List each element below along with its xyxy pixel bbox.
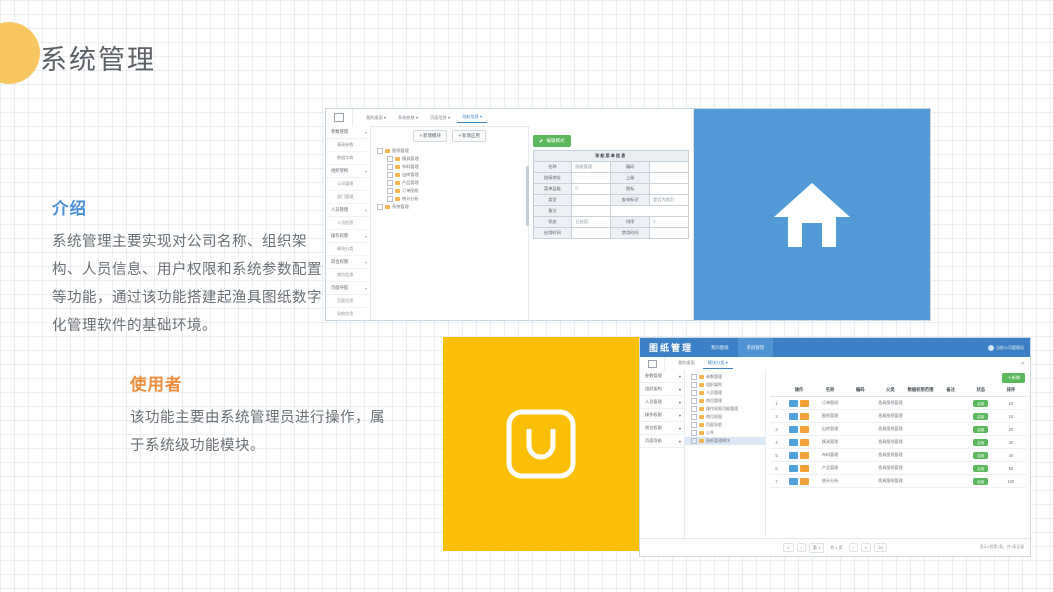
- form-row: 类型查询标识是否为首页: [533, 194, 689, 205]
- form-label: 上级: [611, 172, 650, 183]
- row-index: 2: [770, 410, 783, 423]
- cell-status: 启用: [966, 462, 996, 475]
- sidebar-group-label: 人员管理: [331, 207, 348, 213]
- edit-button[interactable]: [800, 413, 809, 420]
- edit-icon: [539, 138, 544, 143]
- sidebar-group[interactable]: 操作权限▾: [326, 230, 370, 243]
- avatar: [988, 345, 994, 351]
- tree-node[interactable]: 模具管理: [371, 155, 528, 163]
- page-total: 共 1 页: [827, 544, 845, 552]
- cell-remark: [936, 410, 966, 423]
- page-next[interactable]: ›: [849, 543, 858, 552]
- tree-node-label: 操作权限功能管理: [706, 406, 738, 412]
- checkbox[interactable]: [387, 180, 393, 186]
- breadcrumb-item[interactable]: 页面信息 ▾: [425, 113, 455, 123]
- tree-node-label: 图纸管理模块: [706, 438, 730, 444]
- tree-node-label: 系统管理: [392, 204, 409, 210]
- cell-scope: [905, 449, 935, 462]
- checkbox[interactable]: [691, 398, 697, 404]
- view-button[interactable]: [789, 465, 798, 472]
- sidebar-group-label: 参数管理: [645, 373, 662, 379]
- form-row: 启用时间禁用时间: [533, 227, 689, 238]
- tab-bar: 我的桌面模块分类 ▾ ✕: [640, 357, 1030, 371]
- column-header[interactable]: 操作: [783, 384, 815, 397]
- cell-remark: [936, 462, 966, 475]
- tree-node[interactable]: 统计分析: [371, 195, 528, 203]
- cell-status: 启用: [966, 436, 996, 449]
- form-label: 名称: [533, 161, 572, 172]
- row-actions[interactable]: [783, 475, 815, 488]
- screenshot-menu-management: 我的桌面 ▾系统参数 ▾页面信息 ▾导航信息 ▾ 参数管理▾基础参数数据字典组织…: [325, 108, 931, 321]
- form-row: 链接地址上级: [533, 172, 689, 183]
- tree-node-label: 订单图纸: [402, 188, 419, 194]
- chevron-down-icon: ▾: [679, 413, 681, 418]
- table-header-row: 操作名称编码父类数据权限范围备注状态排序: [770, 384, 1026, 397]
- cell-code: [845, 423, 875, 436]
- cell-scope: [905, 423, 935, 436]
- shopping-bag-icon: [504, 407, 578, 481]
- sidebar-group[interactable]: 参数管理▾: [640, 370, 684, 383]
- cell-sort: 10: [996, 397, 1026, 410]
- checkbox[interactable]: [691, 374, 697, 380]
- tree-node-label: 参数管理: [706, 374, 722, 380]
- folder-icon: [699, 439, 704, 443]
- data-grid: 操作名称编码父类数据权限范围备注状态排序 1订单图纸渔具图纸管理启用102图纸管…: [770, 384, 1026, 488]
- cell-code: [845, 462, 875, 475]
- column-header[interactable]: 名称: [815, 384, 845, 397]
- folder-icon: [395, 197, 400, 201]
- sidebar-nav-top: 参数管理▾基础参数数据字典组织架构▾公司管理部门管理人员管理▾人员信息操作权限▾…: [326, 126, 371, 320]
- form-value[interactable]: [572, 194, 611, 205]
- sidebar-item[interactable]: 页面信息: [326, 295, 370, 308]
- add-button[interactable]: ＋新增: [1002, 373, 1025, 383]
- view-button[interactable]: [789, 439, 798, 446]
- tab-item[interactable]: 模块分类 ▾: [703, 358, 733, 369]
- chevron-down-icon: ▾: [365, 234, 367, 239]
- tree-node-label: 统计分析: [402, 196, 419, 202]
- form-label: 菜单层级: [533, 183, 572, 194]
- edit-button[interactable]: [800, 439, 809, 446]
- page-first[interactable]: «: [783, 543, 793, 552]
- cell-name: 出库管理: [815, 423, 845, 436]
- tree-node-label: 产品管理: [402, 180, 419, 186]
- status-badge: 启用: [973, 439, 988, 446]
- sidebar-group[interactable]: 操作权限▾: [640, 409, 684, 422]
- screenshot-module-management: 图纸管理 我的图纸系统管理 当前公司管理员 我的桌面模块分类 ▾ ✕ 参数管理▾…: [639, 337, 1031, 557]
- cell-sort: 15: [996, 410, 1026, 423]
- view-button[interactable]: [789, 452, 798, 459]
- form-label: 状态: [533, 216, 572, 227]
- sidebar-group-label: 页面导航: [331, 285, 348, 291]
- sidebar-item[interactable]: 部门管理: [326, 191, 370, 204]
- sidebar-group-label: 组织架构: [645, 386, 662, 392]
- user-name: 当前公司管理员: [996, 345, 1024, 351]
- data-grid-panel: ＋新增 操作名称编码父类数据权限范围备注状态排序 1订单图纸渔具图纸管理启用10…: [766, 370, 1030, 539]
- row-index: 5: [770, 449, 783, 462]
- sidebar-group-label: 岗位权限: [331, 259, 348, 265]
- checkbox[interactable]: [691, 430, 697, 436]
- page-number[interactable]: 第 1: [809, 543, 824, 553]
- edit-button[interactable]: [800, 465, 809, 472]
- checkbox[interactable]: [377, 204, 383, 210]
- cell-name: 布料管理: [815, 449, 845, 462]
- sidebar-group[interactable]: 组织架构▾: [640, 383, 684, 396]
- form-value[interactable]: [572, 205, 611, 216]
- form-label: 类型: [533, 194, 572, 205]
- folder-icon: [395, 173, 400, 177]
- form-title: 导航菜单信息: [533, 150, 689, 161]
- form-label: 备注: [533, 205, 572, 216]
- cell-code: [845, 410, 875, 423]
- edit-button[interactable]: [800, 400, 809, 407]
- row-index: 6: [770, 462, 783, 475]
- checkbox[interactable]: [387, 172, 393, 178]
- status-badge: 启用: [973, 426, 988, 433]
- form-value[interactable]: [650, 183, 689, 194]
- sidebar-group-label: 操作权限: [645, 412, 662, 418]
- sidebar-nav-bottom: 参数管理▾组织架构▾人员管理▾操作权限▾岗位权限▾页面导航▾: [640, 370, 685, 539]
- page-title: 系统管理: [40, 38, 156, 77]
- checkbox[interactable]: [691, 422, 697, 428]
- form-value[interactable]: [650, 172, 689, 183]
- status-badge: 启用: [973, 478, 988, 485]
- edit-mode-label: 编辑模式: [547, 138, 565, 144]
- chevron-down-icon: ▾: [365, 130, 367, 135]
- row-actions[interactable]: [783, 410, 815, 423]
- tree-node[interactable]: 岗位管理: [685, 397, 765, 405]
- cell-scope: [905, 397, 935, 410]
- app-header-bottom: 图纸管理 我的图纸系统管理 当前公司管理员: [640, 338, 1030, 357]
- view-button[interactable]: [789, 413, 798, 420]
- row-actions[interactable]: [783, 423, 815, 436]
- form-value[interactable]: [650, 227, 689, 238]
- category-tree: 参数管理组织架构人员管理岗位管理操作权限功能管理岗位权限页面导航公共图纸管理模块: [685, 370, 766, 539]
- chevron-down-icon: ▾: [679, 374, 681, 379]
- tree-node-label: 岗位权限: [706, 414, 722, 420]
- form-row: 名称图纸管理编码: [533, 161, 689, 172]
- close-icon[interactable]: ✕: [1021, 361, 1025, 367]
- breadcrumb-item[interactable]: 导航信息 ▾: [457, 112, 487, 123]
- column-header[interactable]: [770, 384, 783, 397]
- cell-remark: [936, 397, 966, 410]
- nav-item[interactable]: 我的图纸: [702, 338, 738, 357]
- row-index: 3: [770, 423, 783, 436]
- intro-paragraph: 系统管理主要实现对公司名称、组织架构、人员信息、用户权限和系统参数配置等功能，通…: [52, 228, 324, 340]
- row-index: 1: [770, 397, 783, 410]
- form-value[interactable]: 1: [650, 216, 689, 227]
- chevron-down-icon: ▾: [365, 169, 367, 174]
- page-last[interactable]: »: [861, 543, 871, 552]
- status-badge: 启用: [973, 400, 988, 407]
- sidebar-group[interactable]: 人员管理▾: [326, 204, 370, 217]
- yellow-bag-panel: [443, 337, 639, 551]
- tab-item[interactable]: 我的桌面: [673, 358, 700, 369]
- cell-sort: 20: [996, 423, 1026, 436]
- checkbox[interactable]: [387, 188, 393, 194]
- checkbox[interactable]: [387, 196, 393, 202]
- breadcrumb: 我的桌面 ▾系统参数 ▾页面信息 ▾导航信息 ▾: [353, 112, 487, 123]
- top-toolbar: 我的桌面 ▾系统参数 ▾页面信息 ▾导航信息 ▾: [326, 109, 693, 127]
- cell-code: [845, 475, 875, 488]
- sidebar-item[interactable]: 导航信息: [326, 308, 370, 321]
- table-row[interactable]: 6产品管理渔具图纸管理启用50: [770, 462, 1026, 475]
- folder-icon: [699, 423, 704, 427]
- tree-toolbar: ＋新增模块＋新增应用: [371, 130, 528, 142]
- intro-heading: 介绍: [52, 195, 87, 219]
- status-badge: 启用: [973, 413, 988, 420]
- sidebar-group-label: 岗位权限: [645, 425, 662, 431]
- tree-node[interactable]: 组织架构: [685, 381, 765, 389]
- tree-node[interactable]: 布料管理: [371, 163, 528, 171]
- cell-scope: [905, 475, 935, 488]
- page-prev[interactable]: ‹: [797, 543, 806, 552]
- row-index: 4: [770, 436, 783, 449]
- chevron-down-icon: ▾: [365, 260, 367, 265]
- form-value[interactable]: 0: [572, 183, 611, 194]
- cell-status: 启用: [966, 410, 996, 423]
- form-value[interactable]: [611, 205, 689, 216]
- form-row: 备注: [533, 205, 689, 216]
- form-label: 启用时间: [533, 227, 572, 238]
- table-row[interactable]: 4模具管理渔具图纸管理启用30: [770, 436, 1026, 449]
- tree-action-button[interactable]: ＋新增应用: [452, 130, 486, 142]
- cell-parent: 渔具图纸管理: [875, 397, 905, 410]
- module-tree-panel: ＋新增模块＋新增应用 图纸管理模具管理布料管理出库管理产品管理订单图纸统计分析系…: [371, 126, 529, 320]
- row-index: 7: [770, 475, 783, 488]
- tree-node[interactable]: 人员管理: [685, 389, 765, 397]
- tree-node[interactable]: 产品管理: [371, 179, 528, 187]
- tree-node[interactable]: 图纸管理模块: [685, 437, 765, 445]
- sidebar-group[interactable]: 组织架构▾: [326, 165, 370, 178]
- cell-parent: 渔具图纸管理: [875, 475, 905, 488]
- cell-code: [845, 436, 875, 449]
- table-row[interactable]: 2图纸管理渔具图纸管理启用15: [770, 410, 1026, 423]
- tree-node[interactable]: 操作权限功能管理: [685, 405, 765, 413]
- sidebar-group[interactable]: 人员管理▾: [640, 396, 684, 409]
- cell-name: 订单图纸: [815, 397, 845, 410]
- tree-node-label: 模具管理: [402, 156, 419, 162]
- cell-name: 模具管理: [815, 436, 845, 449]
- folder-icon: [699, 391, 704, 395]
- tree-node[interactable]: 图纸管理: [371, 147, 528, 155]
- tree-scrollbar[interactable]: [526, 166, 529, 226]
- tabs: 我的桌面模块分类 ▾: [665, 358, 733, 369]
- home-icon: [770, 179, 854, 251]
- sidebar-group-label: 组织架构: [331, 168, 348, 174]
- tree-node-label: 人员管理: [706, 390, 722, 396]
- sidebar-group-label: 人员管理: [645, 399, 662, 405]
- checkbox[interactable]: [691, 382, 697, 388]
- sidebar-group-label: 页面导航: [645, 438, 662, 444]
- form-value[interactable]: [572, 172, 611, 183]
- table-row[interactable]: 7统计分析渔具图纸管理启用100: [770, 475, 1026, 488]
- row-actions[interactable]: [783, 436, 815, 449]
- view-button[interactable]: [789, 400, 798, 407]
- app-logo: 图纸管理: [640, 341, 702, 354]
- nav-item[interactable]: 系统管理: [738, 338, 774, 357]
- module-tree: 图纸管理模具管理布料管理出库管理产品管理订单图纸统计分析系统管理: [371, 147, 528, 211]
- form-row: 菜单层级0图标: [533, 183, 689, 194]
- checkbox[interactable]: [387, 156, 393, 162]
- view-button[interactable]: [789, 426, 798, 433]
- form-label: 排序: [611, 216, 650, 227]
- column-header[interactable]: 数据权限范围: [905, 384, 935, 397]
- sidebar-group[interactable]: 岗位权限▾: [640, 422, 684, 435]
- status-badge: 启用: [973, 452, 988, 459]
- tree-node[interactable]: 公共: [685, 429, 765, 437]
- form-value[interactable]: 已启用: [572, 216, 611, 227]
- user-heading: 使用者: [130, 371, 183, 395]
- tree-node[interactable]: 系统管理: [371, 203, 528, 211]
- tree-node[interactable]: 订单图纸: [371, 187, 528, 195]
- tree-node-label: 出库管理: [402, 172, 419, 178]
- decorative-circle: [0, 22, 40, 84]
- sidebar-group-label: 操作权限: [331, 233, 348, 239]
- sidebar-item[interactable]: 岗位信息: [326, 269, 370, 282]
- checkbox[interactable]: [377, 148, 383, 154]
- sidebar-item[interactable]: 人员信息: [326, 217, 370, 230]
- view-button[interactable]: [789, 478, 798, 485]
- tree-node-label: 岗位管理: [706, 398, 722, 404]
- breadcrumb-item[interactable]: 我的桌面 ▾: [361, 113, 391, 123]
- checkbox[interactable]: [691, 390, 697, 396]
- table-row[interactable]: 3出库管理渔具图纸管理启用20: [770, 423, 1026, 436]
- checkbox[interactable]: [387, 164, 393, 170]
- row-actions[interactable]: [783, 397, 815, 410]
- tree-node[interactable]: 岗位权限: [685, 413, 765, 421]
- cell-sort: 40: [996, 449, 1026, 462]
- column-header[interactable]: 排序: [996, 384, 1026, 397]
- form-value[interactable]: 是否为首页: [650, 194, 689, 205]
- sidebar-group[interactable]: 岗位权限▾: [326, 256, 370, 269]
- folder-icon: [699, 375, 704, 379]
- table-row[interactable]: 5布料管理渔具图纸管理启用40: [770, 449, 1026, 462]
- row-actions[interactable]: [783, 449, 815, 462]
- cell-remark: [936, 436, 966, 449]
- table-row[interactable]: 1订单图纸渔具图纸管理启用10: [770, 397, 1026, 410]
- column-header[interactable]: 编码: [845, 384, 875, 397]
- folder-icon: [395, 181, 400, 185]
- form-row: 状态已启用排序1: [533, 216, 689, 227]
- folder-icon: [699, 399, 704, 403]
- tree-node-label: 布料管理: [402, 164, 419, 170]
- column-header[interactable]: 父类: [875, 384, 905, 397]
- edit-button[interactable]: [800, 426, 809, 433]
- cell-remark: [936, 449, 966, 462]
- cell-remark: [936, 423, 966, 436]
- edit-mode-button[interactable]: 编辑模式: [533, 135, 571, 147]
- form-value[interactable]: [572, 227, 611, 238]
- form-label: 查询标识: [611, 194, 650, 205]
- cell-status: 启用: [966, 397, 996, 410]
- tree-node[interactable]: 参数管理: [685, 373, 765, 381]
- sidebar-group[interactable]: 页面导航▾: [326, 282, 370, 295]
- row-actions[interactable]: [783, 462, 815, 475]
- checkbox[interactable]: [691, 438, 697, 444]
- edit-button[interactable]: [800, 478, 809, 485]
- cell-name: 统计分析: [815, 475, 845, 488]
- chevron-down-icon: ▾: [365, 286, 367, 291]
- cell-remark: [936, 475, 966, 488]
- form-label: 禁用时间: [611, 227, 650, 238]
- cell-scope: [905, 436, 935, 449]
- cell-status: 启用: [966, 449, 996, 462]
- sidebar-item[interactable]: 数据字典: [326, 152, 370, 165]
- cell-code: [845, 449, 875, 462]
- folder-icon: [395, 165, 400, 169]
- sidebar-item[interactable]: 公司管理: [326, 178, 370, 191]
- cell-code: [845, 397, 875, 410]
- folder-icon: [699, 415, 704, 419]
- column-header[interactable]: 状态: [966, 384, 996, 397]
- tree-node-label: 公共: [706, 430, 714, 436]
- breadcrumb-item[interactable]: 系统参数 ▾: [393, 113, 423, 123]
- form-label: 链接地址: [533, 172, 572, 183]
- cell-status: 启用: [966, 423, 996, 436]
- chevron-down-icon: ▾: [365, 208, 367, 213]
- menu-toggle-icon-bottom[interactable]: [640, 357, 665, 370]
- sidebar-group[interactable]: 参数管理▾: [326, 126, 370, 139]
- form-value[interactable]: [650, 161, 689, 172]
- cell-status: 启用: [966, 475, 996, 488]
- cell-parent: 渔具图纸管理: [875, 436, 905, 449]
- status-badge: 启用: [973, 465, 988, 472]
- menu-toggle-icon[interactable]: [326, 109, 353, 126]
- checkbox[interactable]: [691, 414, 697, 420]
- chevron-down-icon: ▾: [679, 426, 681, 431]
- folder-icon: [699, 383, 704, 387]
- checkbox[interactable]: [691, 406, 697, 412]
- folder-icon: [699, 407, 704, 411]
- pagination-bar: « ‹ 第 1 共 1 页 › » 20 显示1到第7条，共7条记录: [640, 538, 1030, 556]
- tree-action-button[interactable]: ＋新增模块: [413, 130, 447, 142]
- tree-node-label: 图纸管理: [392, 148, 409, 154]
- sidebar-group-label: 参数管理: [331, 129, 348, 135]
- cell-sort: 50: [996, 462, 1026, 475]
- edit-button[interactable]: [800, 452, 809, 459]
- cell-name: 产品管理: [815, 462, 845, 475]
- folder-icon: [395, 157, 400, 161]
- cell-name: 图纸管理: [815, 410, 845, 423]
- cell-parent: 渔具图纸管理: [875, 423, 905, 436]
- chevron-down-icon: ▾: [679, 439, 681, 444]
- cell-sort: 100: [996, 475, 1026, 488]
- form-value[interactable]: 图纸管理: [572, 161, 611, 172]
- chevron-down-icon: ▾: [679, 400, 681, 405]
- folder-icon: [395, 189, 400, 193]
- sidebar-group[interactable]: 页面导航▾: [640, 435, 684, 448]
- menu-info-table: 导航菜单信息 名称图纸管理编码链接地址上级菜单层级0图标类型查询标识是否为首页备…: [533, 150, 690, 239]
- user-paragraph: 该功能主要由系统管理员进行操作，属于系统级功能模块。: [130, 404, 398, 460]
- cell-parent: 渔具图纸管理: [875, 462, 905, 475]
- column-header[interactable]: 备注: [936, 384, 966, 397]
- cell-parent: 渔具图纸管理: [875, 410, 905, 423]
- cell-parent: 渔具图纸管理: [875, 449, 905, 462]
- folder-icon: [699, 431, 704, 435]
- sidebar-item[interactable]: 基础参数: [326, 139, 370, 152]
- user-area[interactable]: 当前公司管理员: [988, 345, 1024, 351]
- page-size-select[interactable]: 20: [874, 543, 886, 552]
- app-window-top: 我的桌面 ▾系统参数 ▾页面信息 ▾导航信息 ▾ 参数管理▾基础参数数据字典组织…: [326, 109, 694, 320]
- tree-node-label: 页面导航: [706, 422, 722, 428]
- cell-scope: [905, 410, 935, 423]
- tree-node[interactable]: 页面导航: [685, 421, 765, 429]
- sidebar-item[interactable]: 模块分类: [326, 243, 370, 256]
- tree-node[interactable]: 出库管理: [371, 171, 528, 179]
- cell-sort: 30: [996, 436, 1026, 449]
- folder-icon: [385, 205, 390, 209]
- record-summary: 显示1到第7条，共7条记录: [980, 545, 1024, 550]
